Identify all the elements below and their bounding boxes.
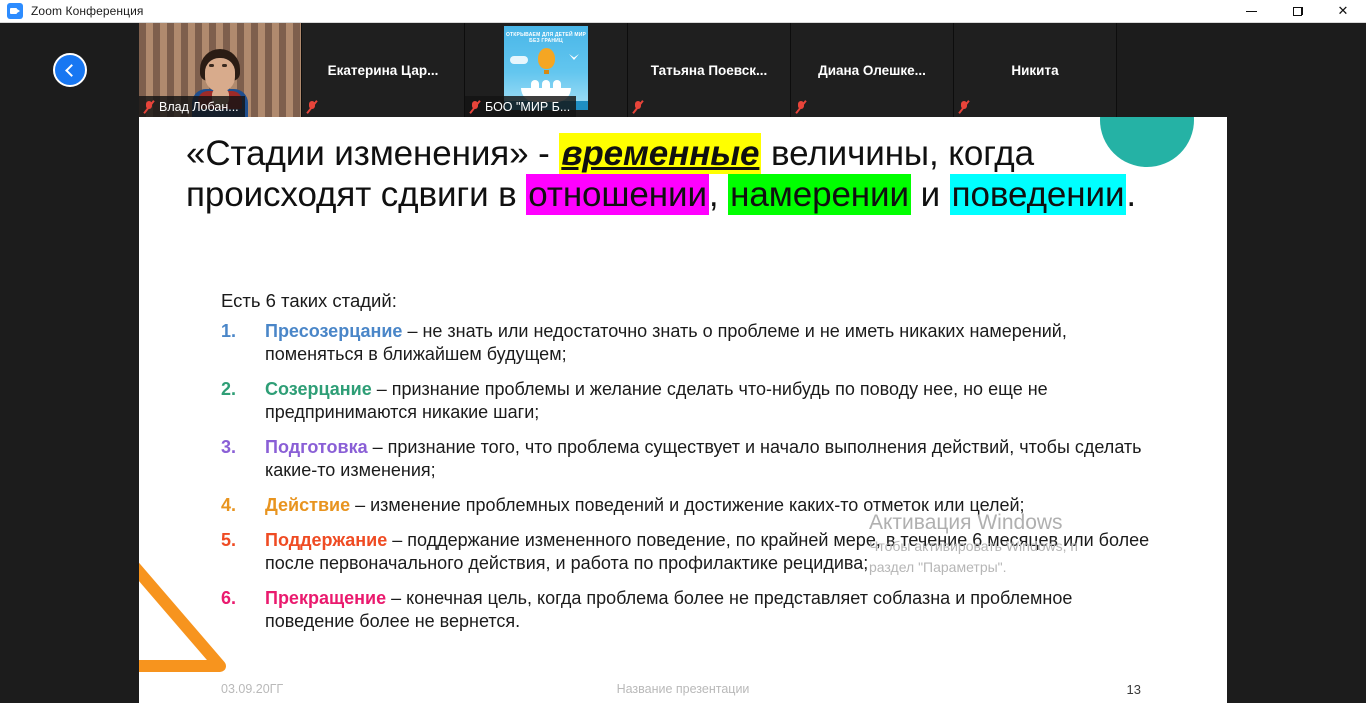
slide-footer: 03.09.20ГГ Название презентации 13 — [139, 682, 1227, 700]
list-item-text: Созерцание – признание проблемы и желани… — [265, 378, 1161, 424]
list-item: 3. Подготовка – признание того, что проб… — [221, 436, 1161, 482]
participant-name: БОО "МИР Б... — [485, 100, 570, 114]
list-item-term: Созерцание — [265, 379, 372, 399]
participant-tile-organization[interactable]: ОТКРЫВАЕМ ДЛЯ ДЕТЕЙ МИР БЕЗ ГРАНИЦ БОО "… — [465, 23, 628, 117]
participant-name: Екатерина Цар... — [324, 63, 443, 78]
heading-part-1: «Стадии изменения» - — [186, 134, 559, 173]
person-eye-right — [222, 64, 227, 67]
minimize-button[interactable] — [1228, 0, 1274, 23]
highlight-temporary: временные — [559, 133, 761, 174]
list-item-term: Подготовка — [265, 437, 368, 457]
participant-tile-ekaterina[interactable]: Екатерина Цар... — [302, 23, 465, 117]
participant-name-badge: Влад Лобан... — [139, 96, 245, 117]
microphone-muted-icon — [305, 99, 318, 114]
child-figure — [542, 80, 550, 90]
participant-filmstrip: Влад Лобан... Екатерина Цар... ОТКРЫВАЕМ… — [0, 23, 1366, 117]
cloud-shape — [510, 56, 528, 64]
participant-name-badge: БОО "МИР Б... — [465, 96, 576, 117]
slide-subtitle: Есть 6 таких стадий: — [221, 290, 397, 312]
window-controls: ✕ — [1228, 0, 1366, 23]
microphone-muted-icon — [957, 99, 970, 114]
window-title: Zoom Конференция — [31, 4, 144, 18]
stages-list: 1. Пресозерцание – не знать или недостат… — [221, 320, 1161, 645]
list-item-text: Поддержание – поддержание измененного по… — [265, 529, 1161, 575]
chevron-left-icon — [65, 64, 78, 77]
list-item-term: Прекращение — [265, 588, 386, 608]
highlight-intention: намерении — [728, 174, 911, 215]
participant-tile-tatyana[interactable]: Татьяна Поевск... — [628, 23, 791, 117]
person-eye-left — [209, 64, 214, 67]
list-item-number: 6. — [221, 587, 265, 610]
microphone-muted-icon — [794, 99, 807, 114]
list-item-description: – поддержание измененного поведение, по … — [265, 530, 1149, 573]
participant-mute-badge — [791, 96, 813, 117]
participant-mute-badge — [954, 96, 976, 117]
footer-page-number: 13 — [1127, 682, 1141, 697]
participant-tile-diana[interactable]: Диана Олешке... — [791, 23, 954, 117]
list-item: 6. Прекращение – конечная цель, когда пр… — [221, 587, 1161, 633]
shared-presentation-slide: «Стадии изменения» - временные величины,… — [139, 117, 1227, 703]
child-figure — [531, 80, 539, 90]
participant-name: Влад Лобан... — [159, 100, 239, 114]
participant-name: Татьяна Поевск... — [647, 63, 772, 78]
slide-heading: «Стадии изменения» - временные величины,… — [186, 134, 1186, 216]
restore-icon — [1293, 7, 1302, 16]
participant-mute-badge — [628, 96, 650, 117]
list-item-number: 4. — [221, 494, 265, 517]
list-item-term: Действие — [265, 495, 350, 515]
list-item: 4. Действие – изменение проблемных повед… — [221, 494, 1161, 517]
list-item-text: Подготовка – признание того, что проблем… — [265, 436, 1161, 482]
heading-part-4: и — [911, 175, 950, 214]
list-item: 1. Пресозерцание – не знать или недостат… — [221, 320, 1161, 366]
microphone-muted-icon — [468, 99, 481, 114]
minimize-icon — [1246, 11, 1257, 12]
list-item-number: 2. — [221, 378, 265, 401]
list-item-number: 3. — [221, 436, 265, 459]
bird-icon — [569, 54, 579, 60]
participant-name: Никита — [1007, 63, 1062, 78]
participant-tile-vlad[interactable]: Влад Лобан... — [139, 23, 302, 117]
back-button-circle[interactable] — [53, 53, 87, 87]
microphone-muted-icon — [631, 99, 644, 114]
maximize-button[interactable] — [1274, 0, 1320, 23]
hot-air-balloon-icon — [538, 48, 555, 69]
footer-title: Название презентации — [139, 682, 1227, 696]
list-item-text: Прекращение – конечная цель, когда пробл… — [265, 587, 1161, 633]
filmstrip-back-button[interactable] — [0, 23, 139, 117]
list-item: 2. Созерцание – признание проблемы и жел… — [221, 378, 1161, 424]
list-item-term: Пресозерцание — [265, 321, 402, 341]
title-bar: Zoom Конференция ✕ — [0, 0, 1366, 23]
participant-name: Диана Олешке... — [814, 63, 930, 78]
list-item-description: – признание того, что проблема существуе… — [265, 437, 1142, 480]
participant-mute-badge — [302, 96, 324, 117]
child-figure — [553, 80, 561, 90]
list-item-text: Действие – изменение проблемных поведени… — [265, 494, 1025, 517]
participant-tile-nikita[interactable]: Никита — [954, 23, 1117, 117]
list-item: 5. Поддержание – поддержание измененного… — [221, 529, 1161, 575]
list-item-term: Поддержание — [265, 530, 387, 550]
balloon-basket — [544, 70, 549, 74]
avatar-slogan: ОТКРЫВАЕМ ДЛЯ ДЕТЕЙ МИР БЕЗ ГРАНИЦ — [504, 32, 588, 45]
highlight-attitude: отношении — [526, 174, 709, 215]
list-item-number: 1. — [221, 320, 265, 343]
microphone-muted-icon — [142, 99, 155, 114]
zoom-camera-icon — [7, 3, 23, 19]
list-item-text: Пресозерцание – не знать или недостаточн… — [265, 320, 1161, 366]
list-item-description: – изменение проблемных поведений и дости… — [350, 495, 1024, 515]
list-item-description: – конечная цель, когда проблема более не… — [265, 588, 1072, 631]
heading-part-3: , — [709, 175, 728, 214]
decorative-triangle — [139, 526, 234, 681]
heading-part-5: . — [1126, 175, 1136, 214]
close-button[interactable]: ✕ — [1320, 0, 1366, 23]
list-item-description: – признание проблемы и желание сделать ч… — [265, 379, 1048, 422]
list-item-number: 5. — [221, 529, 265, 552]
close-icon: ✕ — [1338, 5, 1349, 18]
highlight-behavior: поведении — [950, 174, 1127, 215]
